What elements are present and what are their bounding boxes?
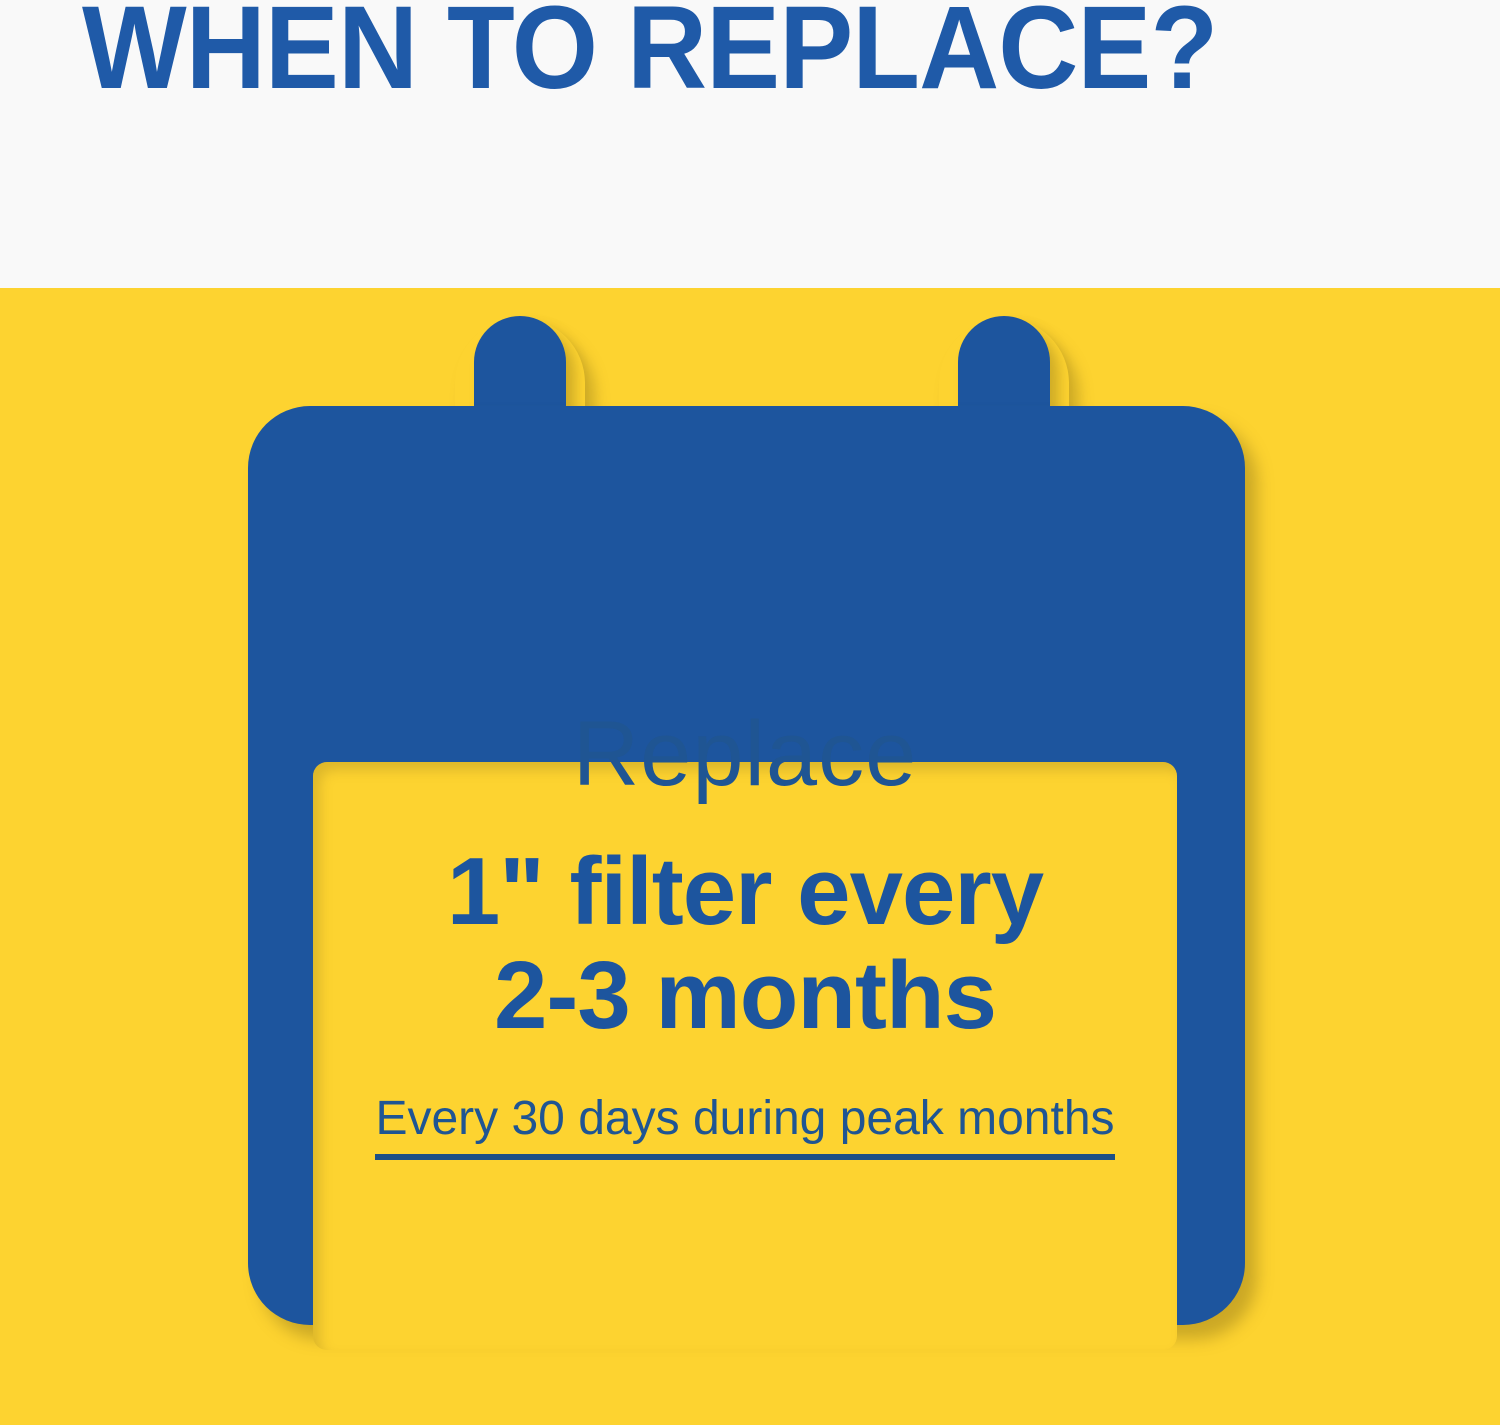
infographic-root: WHEN TO REPLACE? Replace 1" filter every… <box>0 0 1500 1425</box>
calendar-icon: Replace 1" filter every 2-3 months Every… <box>248 318 1248 1330</box>
footnote-text: Every 30 days during peak months <box>375 1090 1114 1148</box>
page-title: WHEN TO REPLACE? <box>82 0 1144 108</box>
headline-line-2: 2-3 months <box>494 944 996 1048</box>
calendar-text-block: Replace 1" filter every 2-3 months Every… <box>313 674 1177 1262</box>
eyebrow-text: Replace <box>573 704 918 804</box>
footnote-underline: Every 30 days during peak months <box>375 1090 1114 1160</box>
header-band: WHEN TO REPLACE? <box>0 0 1500 288</box>
headline-line-1: 1" filter every <box>447 840 1043 944</box>
